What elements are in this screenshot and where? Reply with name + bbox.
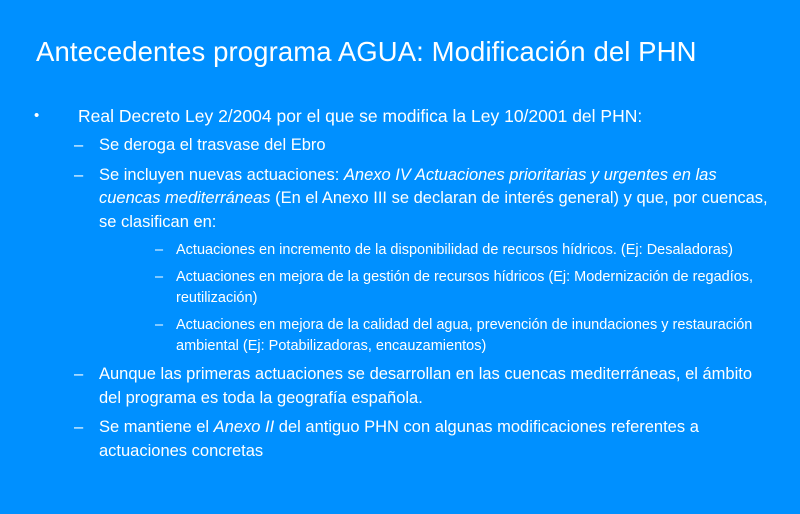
bullet-level3-group: – Actuaciones en incremento de la dispon… [0,240,800,357]
slide-title: Antecedentes programa AGUA: Modificación… [36,35,776,69]
bullet-level3-text: Actuaciones en incremento de la disponib… [176,240,770,261]
bullet-marker-level3: – [155,267,163,288]
bullet-level2-text: Se incluyen nuevas actuaciones: Anexo IV… [99,164,772,235]
bullet-marker-level2: – [74,416,83,440]
bullet-level1-item: • Real Decreto Ley 2/2004 por el que se … [0,104,800,128]
bullet-level2-text: Se mantiene el Anexo II del antiguo PHN … [99,416,772,463]
text-segment-plain: Se mantiene el [99,418,214,436]
bullet-marker-level3: – [155,315,163,336]
text-segment-plain: Se incluyen nuevas actuaciones: [99,166,344,184]
slide-body: • Real Decreto Ley 2/2004 por el que se … [0,104,800,469]
bullet-marker-level3: – [155,240,163,261]
bullet-level2-text: Se deroga el trasvase del Ebro [99,134,772,158]
bullet-marker-level1: • [34,104,39,128]
bullet-level1-text: Real Decreto Ley 2/2004 por el que se mo… [78,104,800,128]
bullet-marker-level2: – [74,134,83,158]
bullet-level3-text: Actuaciones en mejora de la calidad del … [176,315,770,357]
bullet-level3-item: – Actuaciones en mejora de la calidad de… [0,315,800,357]
bullet-marker-level2: – [74,363,83,387]
bullet-level2-item: – Se mantiene el Anexo II del antiguo PH… [0,416,800,463]
bullet-level3-text: Actuaciones en mejora de la gestión de r… [176,267,770,309]
bullet-level3-item: – Actuaciones en mejora de la gestión de… [0,267,800,309]
presentation-slide: Antecedentes programa AGUA: Modificación… [0,0,800,514]
text-segment-italic: Anexo II [214,418,275,436]
bullet-marker-level2: – [74,164,83,188]
bullet-level2-text: Aunque las primeras actuaciones se desar… [99,363,772,410]
bullet-level2-item: – Se deroga el trasvase del Ebro [0,134,800,158]
bullet-level2-item: – Se incluyen nuevas actuaciones: Anexo … [0,164,800,235]
bullet-level3-item: – Actuaciones en incremento de la dispon… [0,240,800,261]
bullet-level2-item: – Aunque las primeras actuaciones se des… [0,363,800,410]
